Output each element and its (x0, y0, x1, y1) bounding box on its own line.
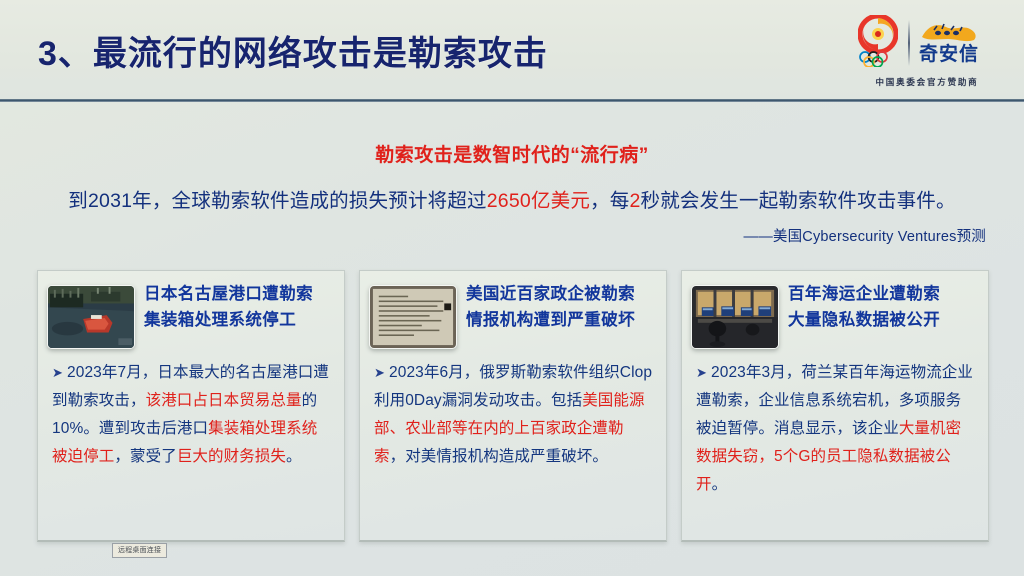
port-aerial-photo (47, 285, 135, 349)
brand-wordmark: 奇安信 (919, 21, 979, 66)
brand-name: 奇安信 (919, 44, 979, 66)
card-title-line1: 日本名古屋港口遭勒索 (144, 281, 313, 307)
header-divider (0, 99, 1024, 102)
card-header: 百年海运企业遭勒索 大量隐私数据被公开 (682, 271, 988, 359)
olympic-rings-icon (858, 51, 898, 67)
card-header: 日本名古屋港口遭勒索 集装箱处理系统停工 (38, 271, 344, 359)
intro-source: ——美国Cybersecurity Ventures预测 (0, 225, 1024, 246)
intro-block: 勒索攻击是数智时代的“流行病” 到2031年，全球勒索软件造成的损失预计将超过2… (0, 140, 1024, 246)
control-room-photo (691, 285, 779, 349)
bullet-arrow-icon: ➤ (374, 365, 385, 380)
card-header: 美国近百家政企被勒索 情报机构遭到严重破坏 (360, 271, 666, 359)
slide-header: 3、最流行的网络攻击是勒索攻击 (0, 0, 1024, 100)
case-card[interactable]: 百年海运企业遭勒索 大量隐私数据被公开 ➤2023年3月，荷兰某百年海运物流企业… (681, 270, 989, 542)
bullet-arrow-icon: ➤ (52, 365, 63, 380)
case-card[interactable]: 日本名古屋港口遭勒索 集装箱处理系统停工 ➤2023年7月，日本最大的名古屋港口… (37, 270, 345, 542)
brand-row: 奇安信 (852, 14, 1002, 72)
brand-calligraphy-icon (920, 21, 978, 43)
brand-divider (908, 20, 910, 66)
card-title-line2: 情报机构遭到严重破坏 (466, 307, 635, 333)
card-body-text: 2023年3月，荷兰某百年海运物流企业遭勒索，企业信息系统宕机，多项服务被迫暂停… (696, 364, 973, 493)
card-body: ➤2023年6月，俄罗斯勒索软件组织Clop利用0Day漏洞发动攻击。包括美国能… (360, 359, 666, 471)
card-title: 日本名古屋港口遭勒索 集装箱处理系统停工 (144, 281, 313, 333)
intro-body: 到2031年，全球勒索软件造成的损失预计将超过2650亿美元，每2秒就会发生一起… (0, 184, 1024, 213)
brand-logo: 奇安信 中国奥委会官方赞助商 (852, 14, 1002, 90)
card-title-line2: 集装箱处理系统停工 (144, 307, 313, 333)
case-card-list: 日本名古屋港口遭勒索 集装箱处理系统停工 ➤2023年7月，日本最大的名古屋港口… (37, 270, 989, 542)
bullet-arrow-icon: ➤ (696, 365, 707, 380)
card-body-text: 2023年7月，日本最大的名古屋港口遭到勒索攻击，该港口占日本贸易总量的10%。… (52, 364, 329, 465)
remote-desktop-tooltip: 远程桌面连接 (112, 543, 167, 558)
card-body-text: 2023年6月，俄罗斯勒索软件组织Clop利用0Day漏洞发动攻击。包括美国能源… (374, 364, 652, 465)
card-body: ➤2023年3月，荷兰某百年海运物流企业遭勒索，企业信息系统宕机，多项服务被迫暂… (682, 359, 988, 499)
brand-tagline: 中国奥委会官方赞助商 (852, 76, 1002, 88)
intro-headline: 勒索攻击是数智时代的“流行病” (0, 140, 1024, 167)
port-aerial-photo-art (48, 286, 134, 348)
document-scan-photo-art (370, 286, 456, 348)
card-title: 美国近百家政企被勒索 情报机构遭到严重破坏 (466, 281, 635, 333)
page-title: 3、最流行的网络攻击是勒索攻击 (38, 26, 548, 75)
card-title-line1: 百年海运企业遭勒索 (788, 281, 940, 307)
case-card[interactable]: 美国近百家政企被勒索 情报机构遭到严重破坏 ➤2023年6月，俄罗斯勒索软件组织… (359, 270, 667, 542)
card-body: ➤2023年7月，日本最大的名古屋港口遭到勒索攻击，该港口占日本贸易总量的10%… (38, 359, 344, 471)
card-title-line1: 美国近百家政企被勒索 (466, 281, 635, 307)
control-room-photo-art (692, 286, 778, 348)
card-title: 百年海运企业遭勒索 大量隐私数据被公开 (788, 281, 940, 333)
flame-swirl-icon (858, 15, 898, 53)
document-scan-photo (369, 285, 457, 349)
olympic-flame-icon (852, 15, 904, 71)
card-title-line2: 大量隐私数据被公开 (788, 307, 940, 333)
